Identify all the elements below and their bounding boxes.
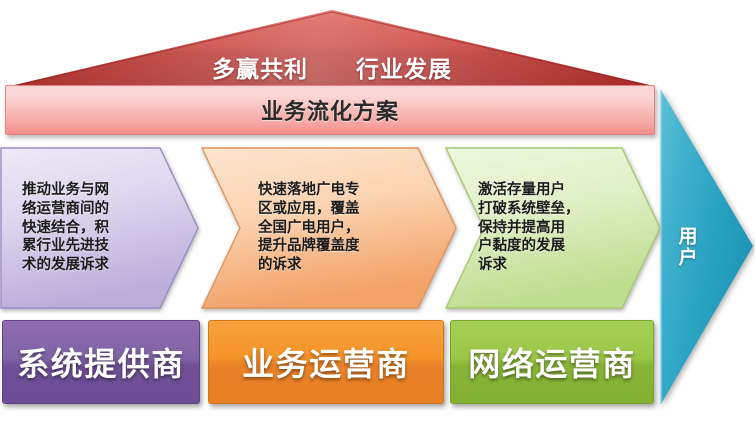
role-label-network-operator: 网络运营商 [468,339,636,385]
diagram-canvas: 多赢共利 行业发展 业务流化方案 推动业务与网 络运营商间的 快速结合，积 累行… [0,0,755,428]
roof-label: 多赢共利 行业发展 [8,8,656,90]
chevron-label-3: 激活存量用户 打破系统壁垒， 保持并提高用 户黏度的发展 诉求 [478,146,616,310]
role-box-business-operator: 业务运营商 [208,320,444,404]
user-arrow-label: 用户 [659,88,715,406]
chevron-business-operator: 快速落地广电专 区或应用，覆盖 全国广电用户， 提升品牌覆盖度 的诉求 [196,146,458,310]
chevron-row: 推动业务与网 络运营商间的 快速结合，积 累行业先进技 术的发展诉求 快速落地广… [0,146,662,310]
user-arrow: 用户 [659,88,755,406]
roof-banner: 多赢共利 行业发展 [8,8,656,90]
chevron-label-2: 快速落地广电专 区或应用，覆盖 全国广电用户， 提升品牌覆盖度 的诉求 [258,146,408,310]
solution-banner-label: 业务流化方案 [261,94,399,126]
chevron-system-provider: 推动业务与网 络运营商间的 快速结合，积 累行业先进技 术的发展诉求 [0,146,200,310]
chevron-label-1: 推动业务与网 络运营商间的 快速结合，积 累行业先进技 术的发展诉求 [22,146,170,310]
role-label-system-provider: 系统提供商 [17,339,185,385]
role-label-business-operator: 业务运营商 [242,339,410,385]
role-box-system-provider: 系统提供商 [2,320,200,404]
role-box-network-operator: 网络运营商 [450,320,654,404]
chevron-network-operator: 激活存量用户 打破系统壁垒， 保持并提高用 户黏度的发展 诉求 [440,146,662,310]
solution-banner: 业务流化方案 [5,85,655,135]
